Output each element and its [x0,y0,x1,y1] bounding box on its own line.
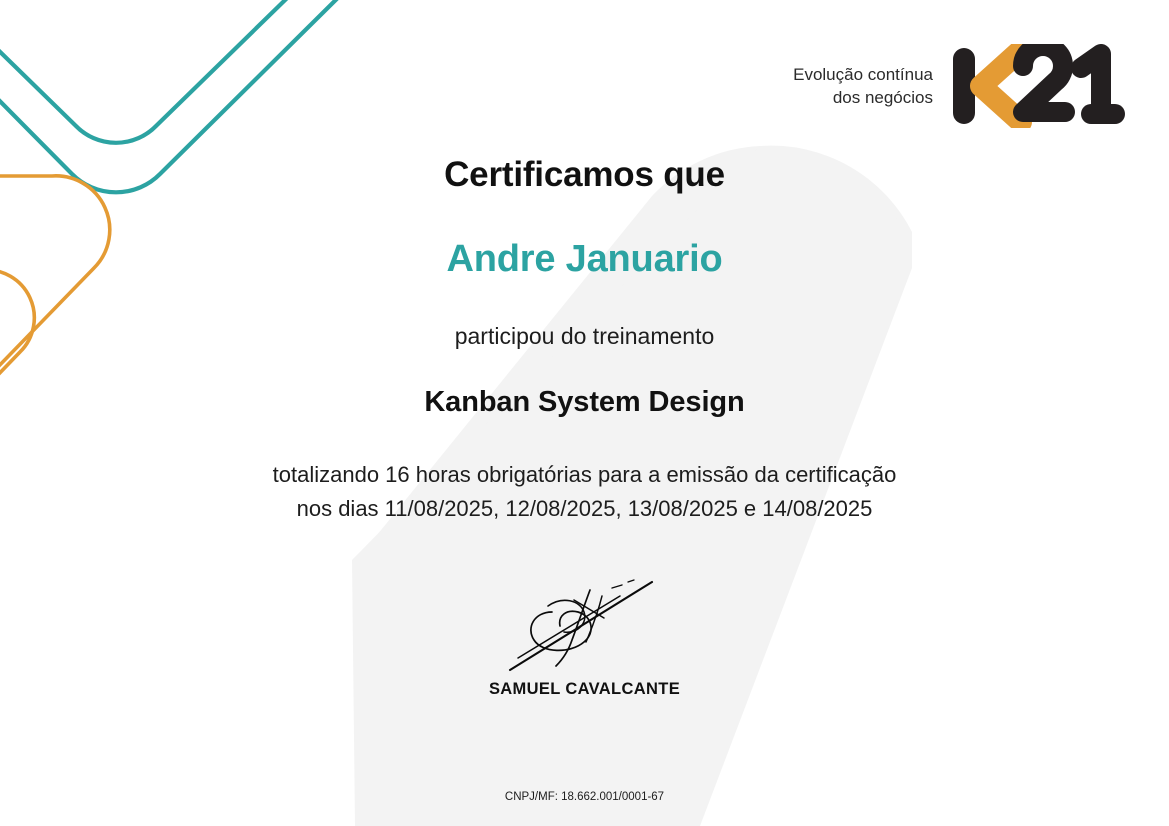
participation-text: participou do treinamento [0,323,1169,350]
signature-block: SAMUEL CAVALCANTE [0,566,1169,699]
certificate-page: Evolução contínua dos negócios Certifica… [0,0,1169,826]
handwritten-signature-icon [500,566,670,676]
recipient-name: Andre Januario [0,238,1169,281]
brand-tagline: Evolução contínua dos negócios [793,63,933,110]
legal-footer-cnpj: CNPJ/MF: 18.662.001/0001-67 [0,791,1169,803]
certify-heading: Certificamos que [0,155,1169,195]
k21-logo [951,44,1127,128]
brand-header: Evolução contínua dos negócios [793,44,1127,128]
workload-and-dates-text: totalizando 16 horas obrigatórias para a… [0,458,1169,526]
course-title: Kanban System Design [0,386,1169,419]
signatory-name: SAMUEL CAVALCANTE [0,680,1169,699]
